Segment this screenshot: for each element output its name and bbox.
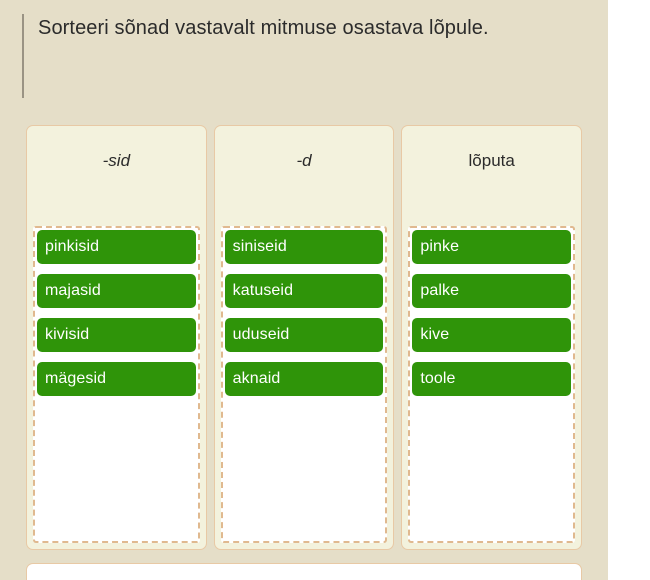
dropzone-2[interactable]: siniseid katuseid uduseid aknaid [221, 226, 388, 543]
word-chip[interactable]: siniseid [225, 230, 384, 264]
sort-column-3[interactable]: lõputa pinke palke kive toole [401, 125, 582, 550]
sort-column-1[interactable]: -sid pinkisid majasid kivisid mägesid [26, 125, 207, 550]
column-header-1: -sid [33, 132, 200, 226]
sorting-columns: -sid pinkisid majasid kivisid mägesid -d… [26, 125, 582, 550]
word-chip[interactable]: aknaid [225, 362, 384, 396]
word-chip[interactable]: majasid [37, 274, 196, 308]
word-chip[interactable]: mägesid [37, 362, 196, 396]
instruction-text: Sorteeri sõnad vastavalt mitmuse osastav… [38, 14, 582, 42]
column-header-2: -d [221, 132, 388, 226]
column-header-3: lõputa [408, 132, 575, 226]
word-chip[interactable]: toole [412, 362, 571, 396]
screen: Sorteeri sõnad vastavalt mitmuse osastav… [0, 0, 650, 580]
word-chip[interactable]: palke [412, 274, 571, 308]
word-chip[interactable]: kivisid [37, 318, 196, 352]
instruction-block: Sorteeri sõnad vastavalt mitmuse osastav… [22, 14, 582, 98]
word-chip[interactable]: pinke [412, 230, 571, 264]
word-chip[interactable]: uduseid [225, 318, 384, 352]
bottom-panel [26, 563, 582, 580]
word-chip[interactable]: katuseid [225, 274, 384, 308]
dropzone-1[interactable]: pinkisid majasid kivisid mägesid [33, 226, 200, 543]
word-chip[interactable]: kive [412, 318, 571, 352]
sort-column-2[interactable]: -d siniseid katuseid uduseid aknaid [214, 125, 395, 550]
dropzone-3[interactable]: pinke palke kive toole [408, 226, 575, 543]
word-chip[interactable]: pinkisid [37, 230, 196, 264]
